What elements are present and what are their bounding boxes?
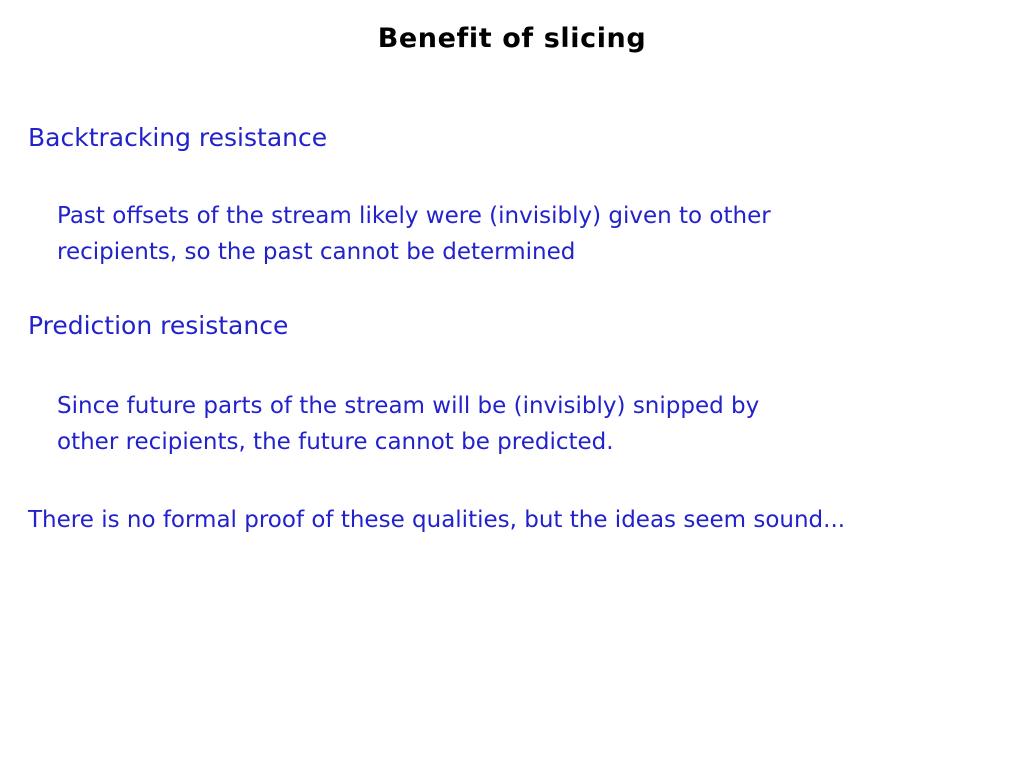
body-line: other recipients, the future cannot be p…	[57, 424, 957, 460]
section-body-prediction-resistance: Since future parts of the stream will be…	[57, 388, 957, 460]
section-heading-backtracking-resistance: Backtracking resistance	[28, 122, 327, 154]
section-body-backtracking-resistance: Past offsets of the stream likely were (…	[57, 198, 957, 270]
body-line: There is no formal proof of these qualit…	[28, 502, 1008, 538]
slide-canvas: Benefit of slicing Backtracking resistan…	[0, 0, 1024, 768]
section-heading-prediction-resistance: Prediction resistance	[28, 310, 288, 342]
page-title: Benefit of slicing	[0, 22, 1024, 56]
body-line: recipients, so the past cannot be determ…	[57, 234, 957, 270]
closing-statement: There is no formal proof of these qualit…	[28, 502, 1008, 538]
body-line: Past offsets of the stream likely were (…	[57, 198, 957, 234]
body-line: Since future parts of the stream will be…	[57, 388, 957, 424]
